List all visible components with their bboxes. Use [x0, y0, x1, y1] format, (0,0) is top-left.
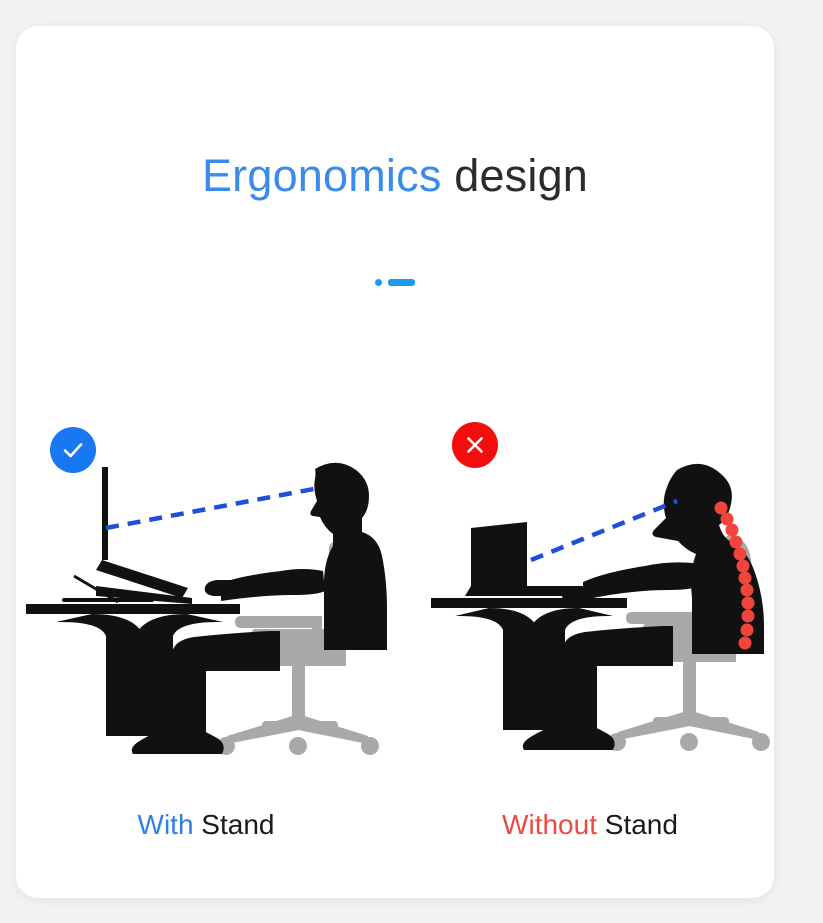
- laptop: [96, 467, 192, 604]
- sightline-good: [106, 488, 319, 528]
- caption-rest-bad: Stand: [597, 809, 678, 840]
- page-title-rest: design: [442, 150, 589, 201]
- illustration-upright-posture: [26, 456, 406, 761]
- illustration-hunched-posture: [431, 456, 774, 761]
- dot-icon: [375, 279, 382, 286]
- laptop: [465, 522, 595, 596]
- scene-with-stand: [26, 456, 406, 761]
- caption-highlight-good: With: [138, 809, 194, 840]
- caption-without-stand: Without Stand: [406, 809, 774, 841]
- page-title-highlight: Ergonomics: [202, 150, 442, 201]
- bar-icon: [388, 279, 415, 286]
- caption-rest-good: Stand: [194, 809, 275, 840]
- ergonomics-card: Ergonomics design: [16, 26, 774, 898]
- title-accent: [16, 279, 774, 286]
- page-title: Ergonomics design: [16, 150, 774, 202]
- caption-with-stand: With Stand: [16, 809, 396, 841]
- caption-highlight-bad: Without: [502, 809, 597, 840]
- scene-without-stand: [431, 456, 774, 761]
